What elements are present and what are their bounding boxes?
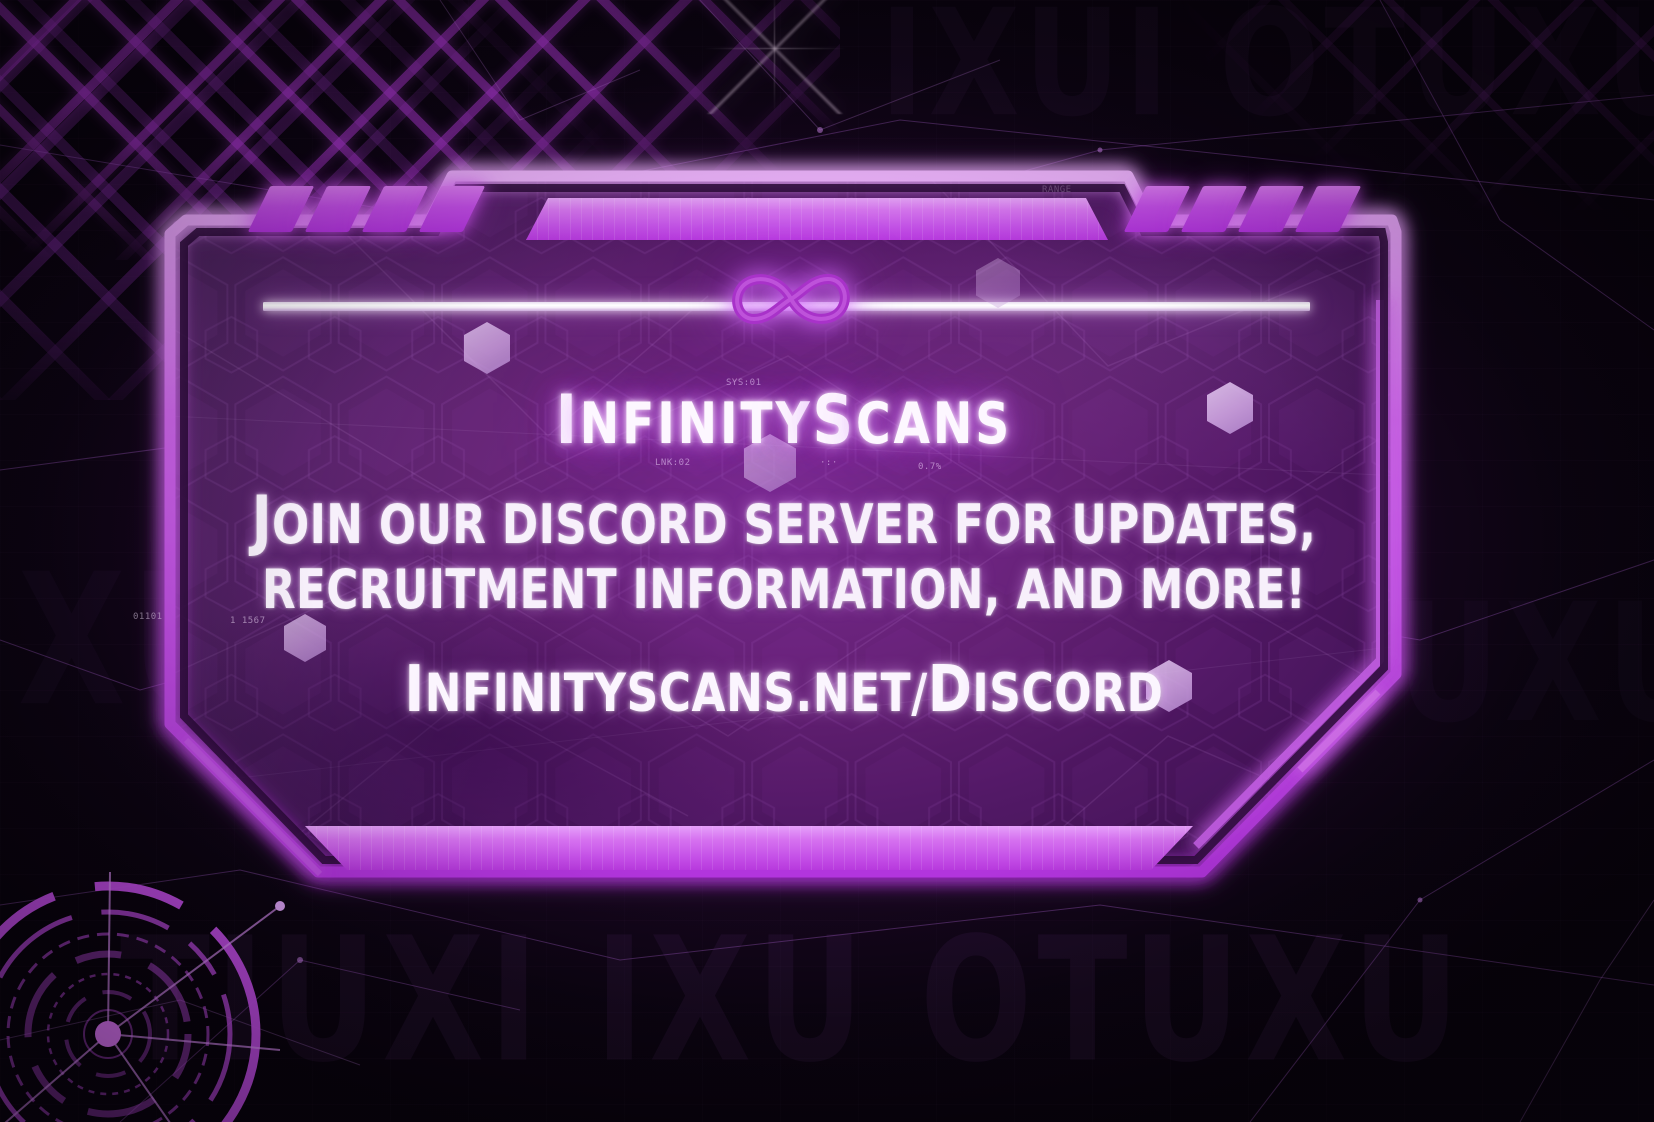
diagonal-crosshatch-pattern-right: [1174, 0, 1654, 210]
promo-banner: IXUI OTUXU TIUXI IXU OTUXU IXUTI OTUXU: [0, 0, 1654, 1122]
lens-flare-icon: [690, 0, 860, 114]
